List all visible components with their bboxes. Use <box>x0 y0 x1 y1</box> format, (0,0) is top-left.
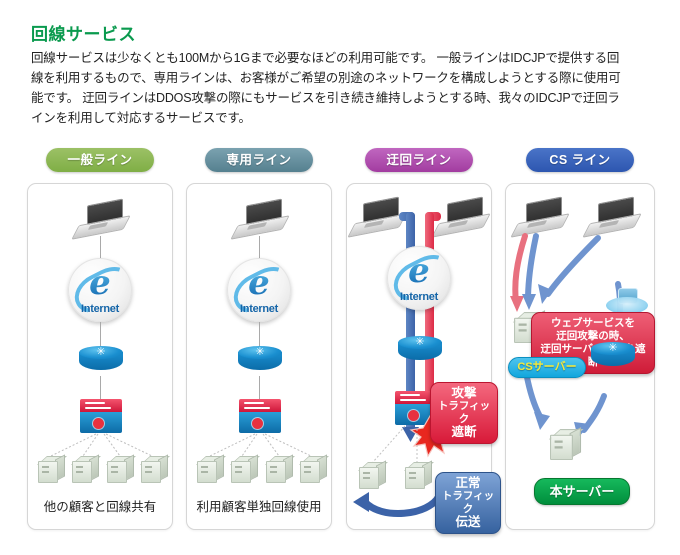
cloud-disc-icon <box>606 286 648 314</box>
column-bypass-line: 迂回ライン e Internet <box>346 148 492 530</box>
column-cs-line: CS ライン <box>505 148 655 530</box>
pill-dedicated-line[interactable]: 専用ライン <box>205 148 313 172</box>
diagram-columns: 一般ライン e Internet ✳ <box>0 148 680 548</box>
caption-general-line: 他の顧客と回線共有 <box>28 496 172 515</box>
page-title: 回線サービス <box>31 20 136 45</box>
column-general-line: 一般ライン e Internet ✳ <box>27 148 173 530</box>
client-to-cs-arrow <box>528 236 536 300</box>
server-icon <box>141 456 167 482</box>
pill-general-line[interactable]: 一般ライン <box>46 148 154 172</box>
page-description: 回線サービスは少なくとも100Mから1Gまで必要なほどの利用可能です。 一般ライ… <box>31 48 631 128</box>
client2-to-cs-arrow <box>548 238 598 294</box>
panel-dedicated-line: e Internet ✳ <box>186 183 332 530</box>
callout-normal-traffic-forward: 正常 トラフィック 伝送 <box>435 472 501 534</box>
pill-bypass-line[interactable]: 迂回ライン <box>365 148 473 172</box>
server-icon <box>72 456 98 482</box>
panel-general-line: e Internet ✳ <box>27 183 173 530</box>
server-icon <box>300 456 326 482</box>
server-icon <box>38 456 64 482</box>
panel-bypass-line: e Internet ✳ 攻撃 トラフィック 遮断 <box>346 183 492 530</box>
server-icon <box>197 456 223 482</box>
router-icon: ✳ <box>591 342 635 372</box>
cs-server-badge[interactable]: CSサーバー <box>508 357 586 378</box>
pill-cs-line[interactable]: CS ライン <box>526 148 634 172</box>
server-icon <box>231 456 257 482</box>
caption-dedicated-line: 利用顧客単独回線使用 <box>187 496 331 515</box>
attack-arrow <box>515 236 525 302</box>
server-icon <box>107 456 133 482</box>
panel-cs-line: ウェブサービスを 迂回攻撃の時、 迂回サーバーだけを遮断 CSサーバー ✳ 本サ… <box>505 183 655 530</box>
cs-to-main-arrow <box>526 372 542 420</box>
server-icon <box>266 456 292 482</box>
main-server-badge[interactable]: 本サーバー <box>534 478 630 505</box>
column-dedicated-line: 専用ライン e Internet ✳ <box>186 148 332 530</box>
main-server-icon <box>550 429 576 455</box>
